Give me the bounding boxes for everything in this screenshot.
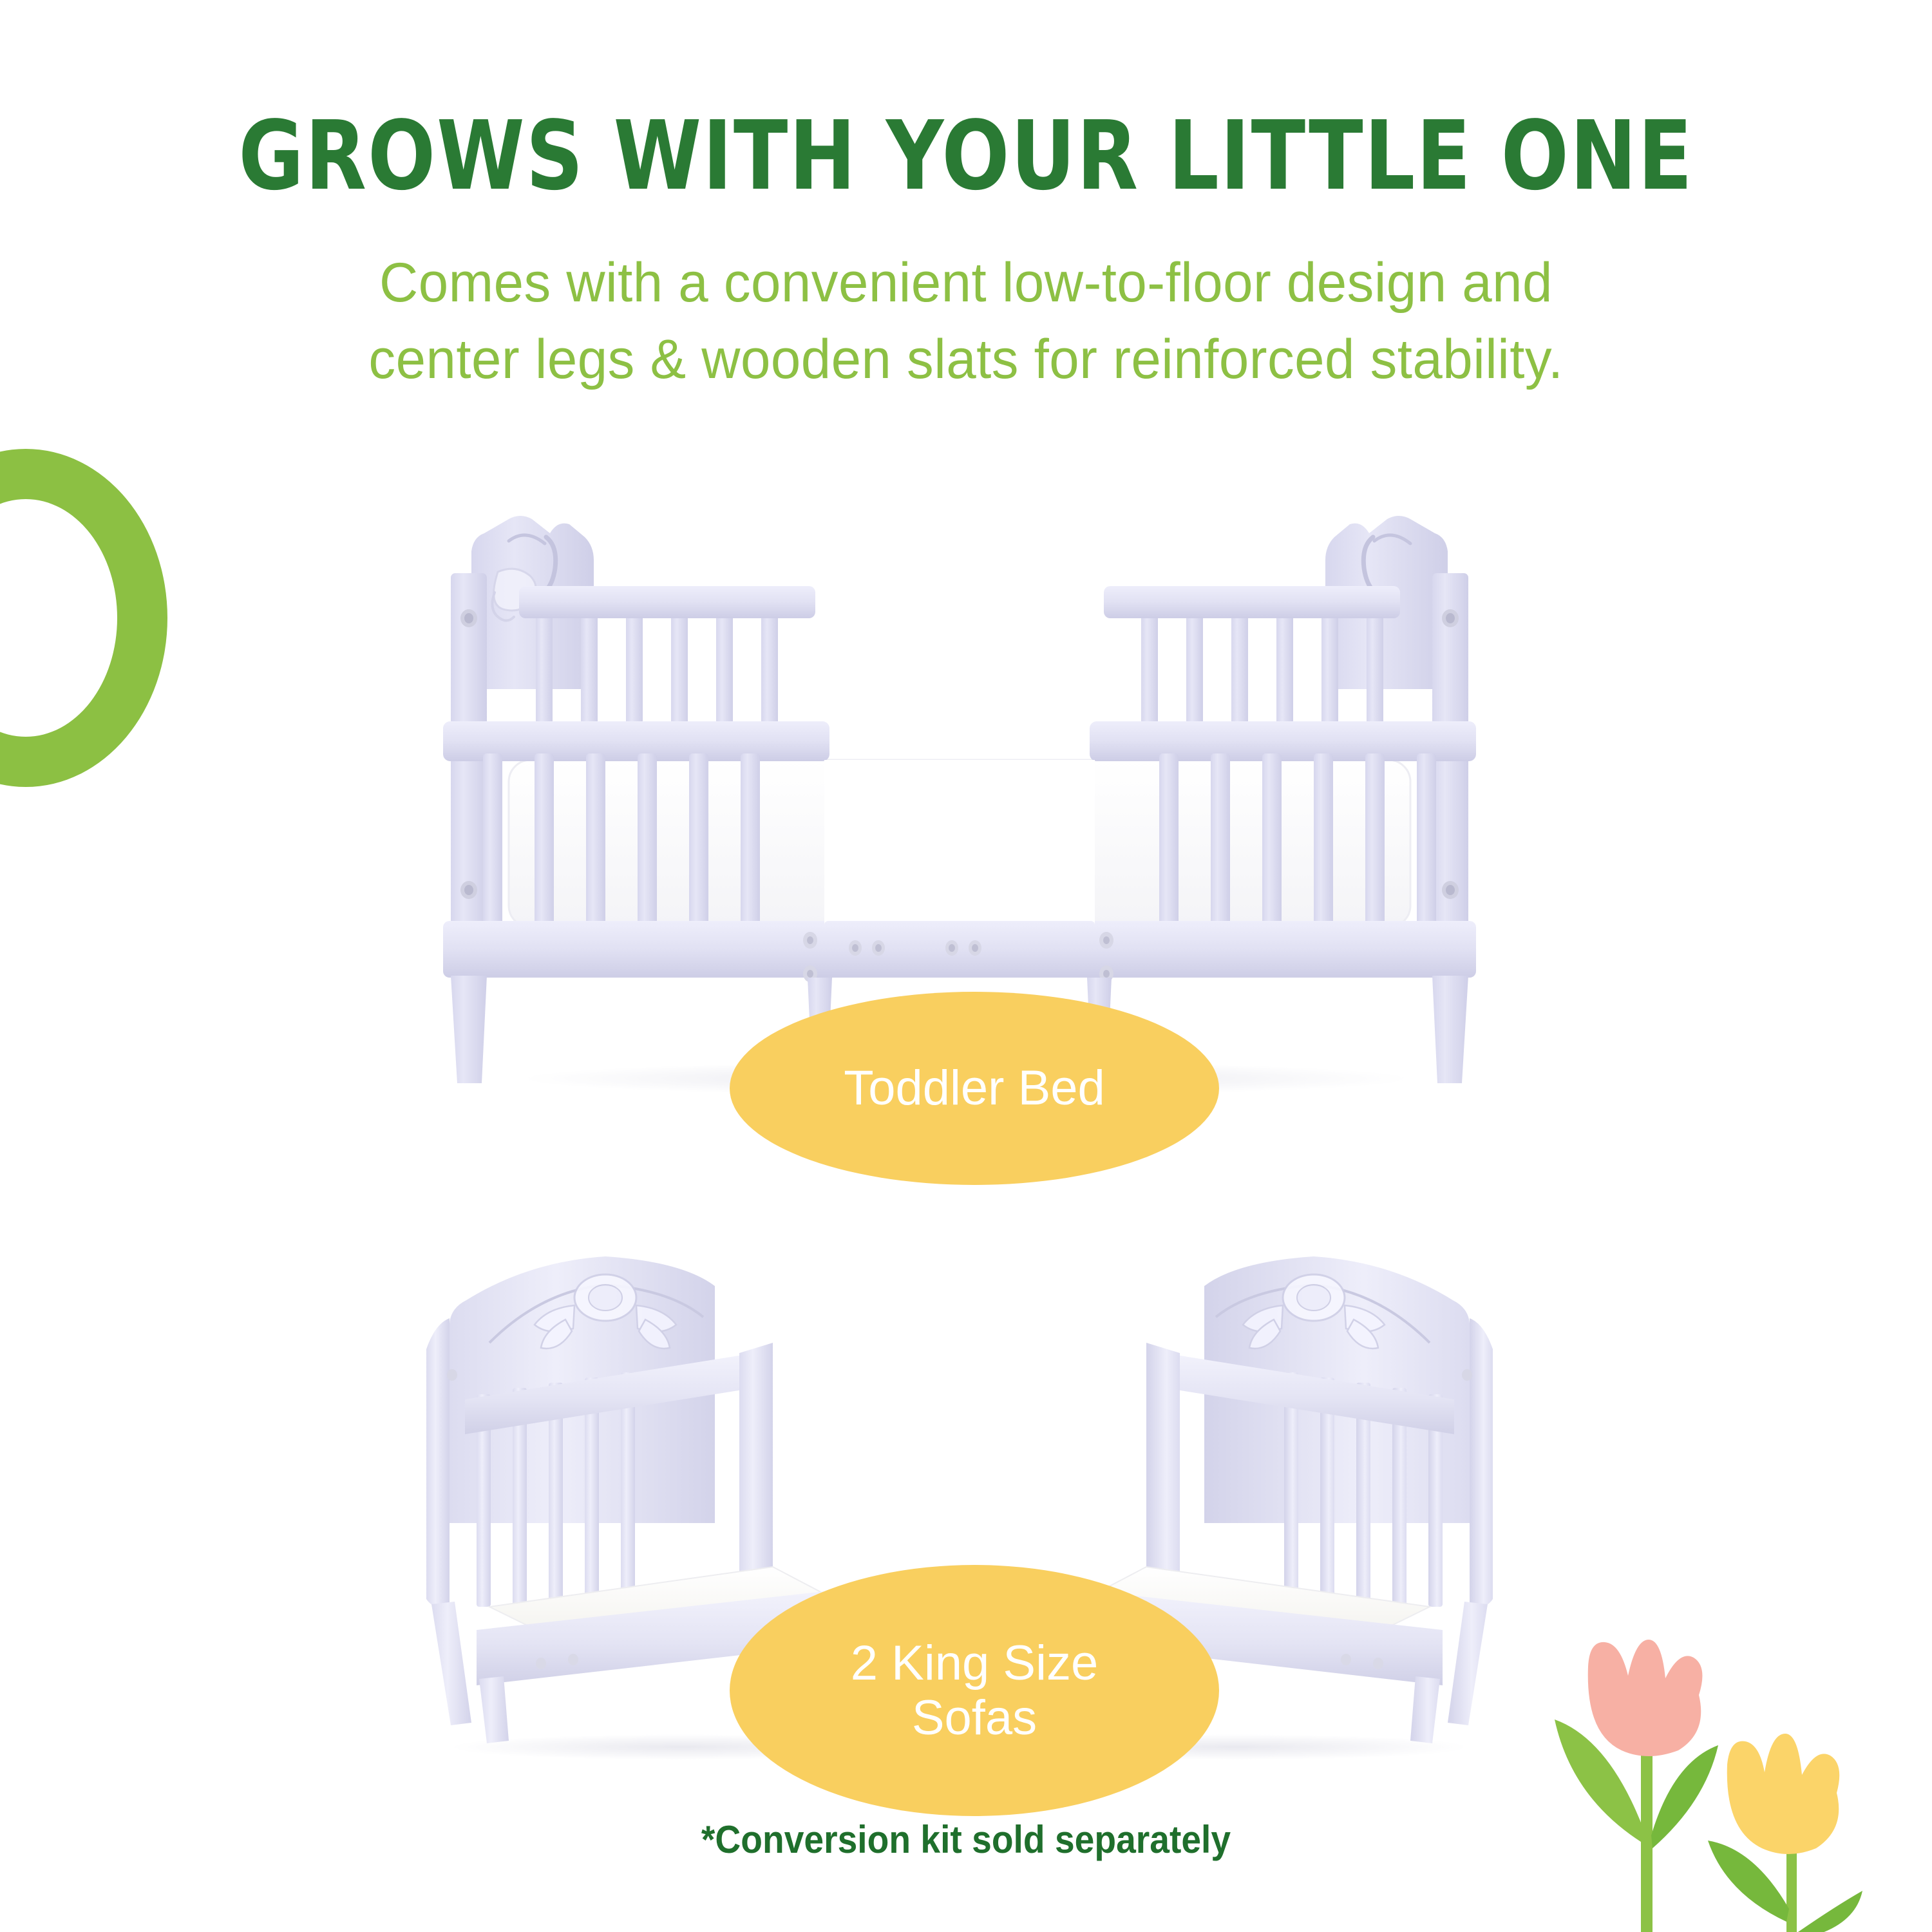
page-subtitle: Comes with a convenient low-to-floor des… [29,245,1903,397]
page-subtitle-line-2: center legs & wooden slats for reinforce… [29,321,1903,398]
page-title: GROWS WITH YOUR LITTLE ONE [68,108,1864,204]
label-sofas-line-1: 2 King Size [851,1636,1098,1690]
label-king-size-sofas-text: 2 King Size Sofas [851,1636,1098,1745]
label-king-size-sofas: 2 King Size Sofas [730,1565,1219,1816]
poster-canvas: GROWS WITH YOUR LITTLE ONE Comes with a … [0,0,1932,1932]
green-ring-decoration [0,449,167,787]
tulips-decoration [1533,1636,1932,1932]
label-toddler-bed-text: Toddler Bed [844,1061,1105,1115]
label-sofas-line-2: Sofas [912,1690,1037,1745]
page-subtitle-line-1: Comes with a convenient low-to-floor des… [29,245,1903,321]
label-toddler-bed: Toddler Bed [730,992,1219,1185]
